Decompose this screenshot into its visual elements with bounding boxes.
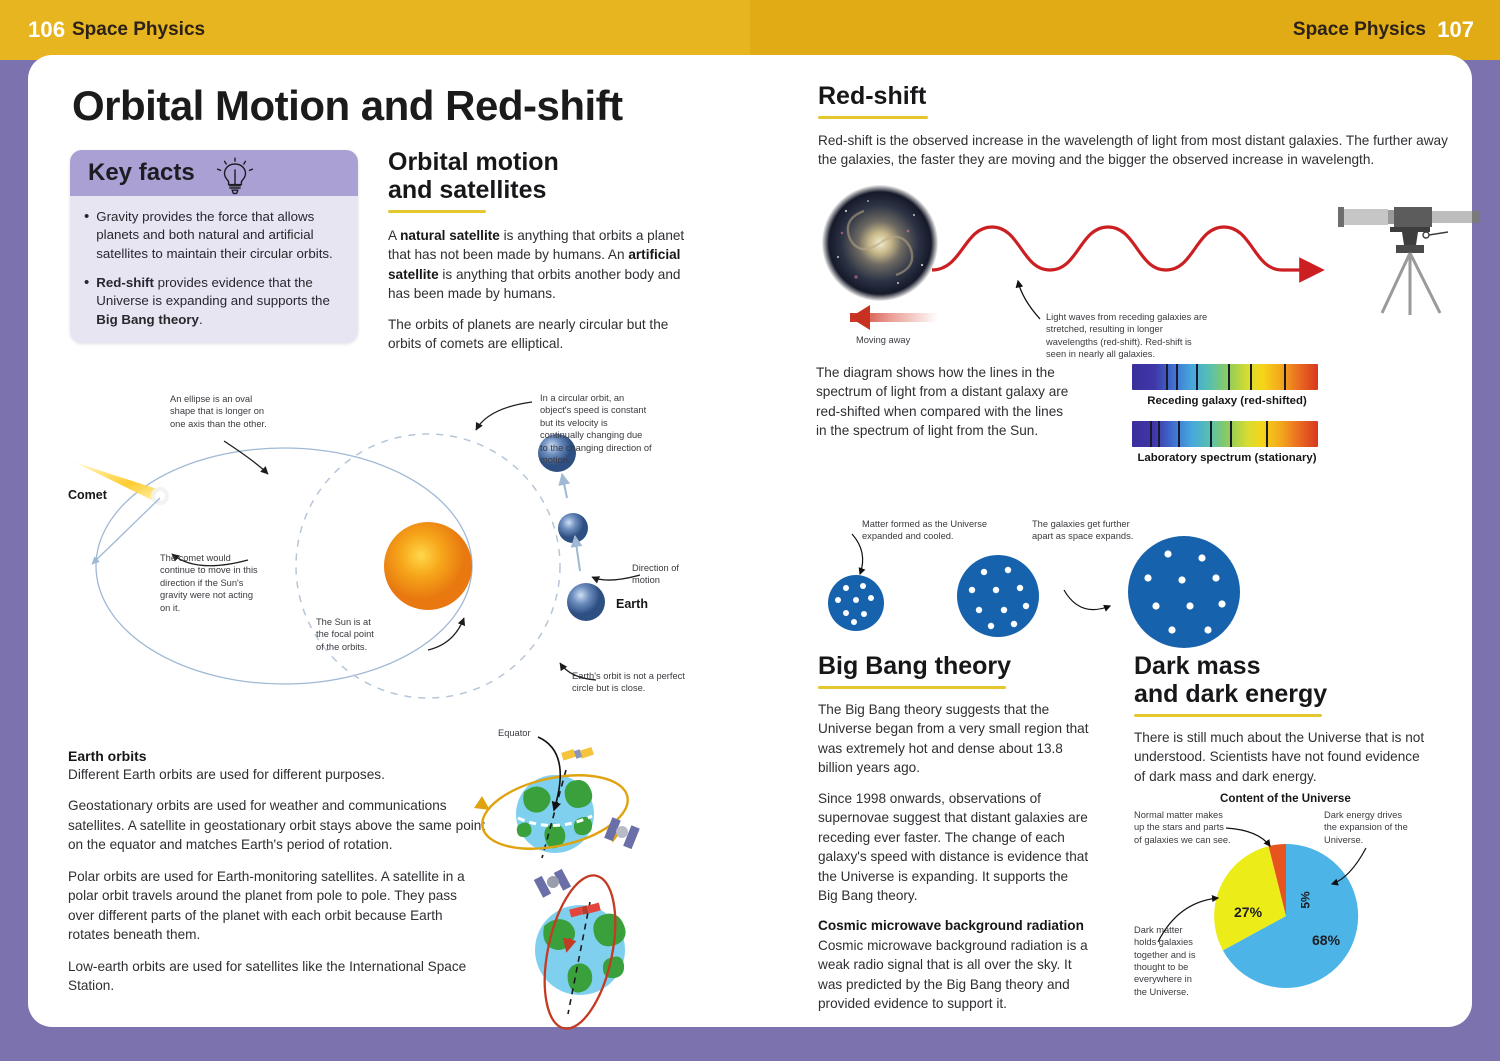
big-bang-section: Big Bang theory The Big Bang theory sugg… <box>818 652 1090 1014</box>
left-page: Orbital Motion and Red-shift Key facts <box>28 55 750 1027</box>
key-facts-list: • Gravity provides the force that allows… <box>70 196 358 343</box>
bullet-dot: • <box>84 208 89 263</box>
earth-orbits-title: Earth orbits <box>68 748 486 764</box>
kf-bold-bigbang: Big Bang theory <box>96 312 199 327</box>
spectral-line <box>1178 421 1180 447</box>
heading-rule <box>388 210 486 213</box>
spectral-line <box>1230 421 1232 447</box>
big-bang-para-1: The Big Bang theory suggests that the Un… <box>818 700 1090 778</box>
spectral-line <box>1266 421 1268 447</box>
earth-geostationary <box>516 775 594 853</box>
lightbulb-icon <box>212 155 258 197</box>
satellite-orbit-svg <box>462 722 692 1022</box>
heading-rule <box>1134 714 1322 717</box>
chart-title: Content of the Universe <box>1220 792 1351 805</box>
universe-expansion-figure: Matter formed as the Universe expanded a… <box>816 500 1466 640</box>
big-bang-para-2: Since 1998 onwards, observations of supe… <box>818 789 1090 906</box>
annotation-normal-matter: Normal matter makes up the stars and par… <box>1134 809 1232 846</box>
kf-text-2: . <box>199 312 203 327</box>
chapter-title-left: Space Physics <box>72 19 205 41</box>
key-facts-item-text: Red-shift provides evidence that the Uni… <box>96 274 342 329</box>
moving-away-label: Moving away <box>856 334 910 346</box>
spectrum-receding-galaxy <box>1132 364 1318 390</box>
spectral-line <box>1166 364 1168 390</box>
satellite-orbit-figures: Equator <box>462 722 692 1012</box>
kf-bold-redshift: Red-shift <box>96 275 154 290</box>
key-facts-box: Key facts • Grav <box>70 150 358 343</box>
big-bang-subheading: Cosmic microwave background radiation <box>818 916 1090 935</box>
annotation-direction-of-motion: Direction of motion <box>632 562 702 587</box>
pie-value-dark-energy: 68% <box>1312 932 1340 948</box>
big-bang-heading: Big Bang theory <box>818 652 1090 680</box>
spectrum-caption-top: Receding galaxy (red-shifted) <box>1132 395 1322 407</box>
key-facts-item-text: Gravity provides the force that allows p… <box>96 208 342 263</box>
annotation-galaxies-apart: The galaxies get further apart as space … <box>1032 518 1142 543</box>
annotation-equator: Equator <box>498 727 531 739</box>
annotation-sun-note: The Sun is at the focal point of the orb… <box>316 616 378 653</box>
satellite-geo-2 <box>604 817 640 849</box>
dark-mass-heading: Dark mass and dark energy <box>1134 652 1434 708</box>
annotation-circular-orbit: In a circular orbit, an object's speed i… <box>540 392 652 467</box>
annotation-dark-matter: Dark matter holds galaxies together and … <box>1134 924 1200 998</box>
orbit-diagram: An ellipse is an oval shape that is long… <box>56 378 736 718</box>
spectral-line <box>1210 421 1212 447</box>
bullet-dot: • <box>84 274 89 329</box>
pie-value-normal-matter: 5% <box>1299 891 1313 908</box>
spectral-line <box>1158 421 1160 447</box>
heading-line-2: and dark energy <box>1134 680 1327 708</box>
red-shift-heading: Red-shift <box>818 82 1458 110</box>
key-facts-item: • Gravity provides the force that allows… <box>84 208 342 263</box>
annotation-matter-formed: Matter formed as the Universe expanded a… <box>862 518 992 543</box>
orbital-motion-heading: Orbital motion and satellites <box>388 148 688 204</box>
satellite-polar-1 <box>534 869 571 898</box>
page-number-right: 107 <box>1437 17 1474 43</box>
red-shift-body: Red-shift is the observed increase in th… <box>818 131 1458 170</box>
earth-orbits-body: Different Earth orbits are used for diff… <box>68 765 486 995</box>
earth-orbits-para-1: Geostationary orbits are used for weathe… <box>68 796 486 854</box>
annotation-light-waves: Light waves from receding galaxies are s… <box>1046 311 1208 361</box>
page-number-left: 106 <box>28 17 65 43</box>
orbital-motion-body: A natural satellite is anything that orb… <box>388 226 688 354</box>
annotation-earth-label: Earth <box>616 596 648 613</box>
big-bang-body: The Big Bang theory suggests that the Un… <box>818 700 1090 1014</box>
orbital-para-2: The orbits of planets are nearly circula… <box>388 315 688 354</box>
earth-orbits-section: Earth orbits Different Earth orbits are … <box>68 748 486 1007</box>
chapter-title-right: Space Physics <box>1293 19 1426 41</box>
annotation-comet-label: Comet <box>68 487 107 504</box>
annotation-earth-orbit: Earth's orbit is not a perfect circle bu… <box>572 670 688 695</box>
spectral-line <box>1196 364 1198 390</box>
spectral-line <box>1284 364 1286 390</box>
dark-mass-section: Dark mass and dark energy There is still… <box>1134 652 1434 786</box>
spectral-line <box>1150 421 1152 447</box>
red-shift-figure: Moving away Light waves from receding ga… <box>812 185 1462 350</box>
heading-rule <box>818 116 928 119</box>
universe-stage-3 <box>1128 536 1240 648</box>
universe-stage-1 <box>828 575 884 631</box>
key-facts-item: • Red-shift provides evidence that the U… <box>84 274 342 329</box>
earth-orbits-intro: Different Earth orbits are used for diff… <box>68 765 486 784</box>
para1-bold-natural: natural satellite <box>400 228 500 243</box>
para1-a: A <box>388 228 400 243</box>
heading-rule <box>818 686 1006 689</box>
right-page: Red-shift Red-shift is the observed incr… <box>750 55 1472 1027</box>
orbital-motion-section: Orbital motion and satellites A natural … <box>388 148 688 354</box>
pie-value-dark-matter: 27% <box>1234 904 1262 920</box>
heading-line-1: Orbital motion <box>388 148 559 176</box>
red-shift-section: Red-shift Red-shift is the observed incr… <box>818 82 1458 170</box>
spectral-line <box>1250 364 1252 390</box>
spectrum-laboratory <box>1132 421 1318 447</box>
key-facts-header: Key facts <box>70 150 358 196</box>
heading-line-2: and satellites <box>388 176 546 204</box>
satellite-geo-1 <box>561 747 594 761</box>
spectral-line <box>1228 364 1230 390</box>
heading-line-1: Dark mass <box>1134 652 1260 680</box>
telescope-icon <box>1338 207 1480 315</box>
spectra-figure: Receding galaxy (red-shifted) Laboratory… <box>1132 364 1322 464</box>
big-bang-para-3: Cosmic microwave background radiation is… <box>818 936 1090 1014</box>
dark-mass-body: There is still much about the Universe t… <box>1134 728 1434 786</box>
key-facts-title: Key facts <box>88 159 195 187</box>
orbital-para-1: A natural satellite is anything that orb… <box>388 226 688 304</box>
annotation-comet-note: The comet would continue to move in this… <box>160 552 258 614</box>
spectral-line <box>1176 364 1178 390</box>
earth-orbits-para-3: Low-earth orbits are used for satellites… <box>68 957 486 996</box>
earth-orbits-para-2: Polar orbits are used for Earth-monitori… <box>68 867 486 945</box>
annotation-ellipse: An ellipse is an oval shape that is long… <box>170 393 275 430</box>
spectra-text: The diagram shows how the lines in the s… <box>816 363 1076 441</box>
page-spread: 106 Space Physics Space Physics 107 Orbi… <box>0 0 1500 1061</box>
spectrum-caption-bottom: Laboratory spectrum (stationary) <box>1132 452 1322 464</box>
annotation-dark-energy: Dark energy drives the expansion of the … <box>1324 809 1410 846</box>
page-title: Orbital Motion and Red-shift <box>72 82 623 130</box>
content-of-universe-chart: Content of the Universe Normal mat <box>1134 792 1464 1007</box>
universe-stage-2 <box>957 555 1039 637</box>
moving-away-arrow <box>850 305 938 330</box>
